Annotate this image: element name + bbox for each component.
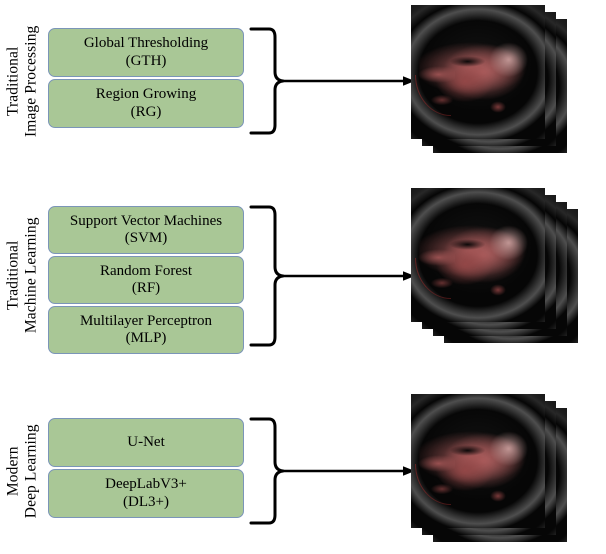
segmentation-overlay-notch (446, 55, 489, 68)
method-box-random-forest[interactable]: Random Forest (RF) (48, 256, 244, 304)
output-stack-modern-deep-learning (411, 394, 581, 549)
category-label-line2: Image Processing (23, 25, 41, 136)
ct-scan-layer-front[interactable] (411, 188, 545, 322)
method-name: Region Growing (96, 86, 196, 103)
arrow-to-output-traditional-machine-learning (283, 270, 415, 282)
output-stack-traditional-image-processing (411, 5, 581, 160)
method-box-u-net[interactable]: U-Net (48, 418, 244, 467)
segmentation-overlay-speck (487, 99, 508, 115)
method-box-deeplabv3plus[interactable]: DeepLabV3+ (DL3+) (48, 469, 244, 518)
method-box-multilayer-perceptron[interactable]: Multilayer Perceptron (MLP) (48, 306, 244, 354)
arrow-to-output-traditional-image-processing (283, 75, 415, 87)
method-abbr: (MLP) (126, 330, 167, 347)
segmentation-overlay-notch (446, 444, 489, 457)
method-box-global-thresholding[interactable]: Global Thresholding (GTH) (48, 28, 244, 77)
method-name: U-Net (127, 434, 165, 451)
method-abbr: (RG) (131, 104, 162, 121)
method-name: Support Vector Machines (70, 213, 222, 230)
category-label-traditional-image-processing: Traditional Image Processing (0, 20, 46, 142)
method-box-list-traditional-image-processing: Global Thresholding (GTH) Region Growing… (48, 28, 244, 128)
method-box-support-vector-machines[interactable]: Support Vector Machines (SVM) (48, 206, 244, 254)
arrow-to-output-modern-deep-learning (283, 465, 415, 477)
ct-scan-layer-front[interactable] (411, 394, 545, 528)
method-abbr: (RF) (132, 280, 160, 297)
segmentation-overlay-speck (487, 282, 508, 298)
category-label-line1: Modern (5, 424, 23, 518)
category-label-line2: Machine Learning (23, 217, 41, 333)
category-label-traditional-machine-learning: Traditional Machine Learning (0, 195, 46, 355)
ct-scan-layer-front[interactable] (411, 5, 545, 139)
category-label-line1: Traditional (5, 25, 23, 136)
method-name: DeepLabV3+ (105, 476, 187, 493)
method-name: Random Forest (100, 263, 192, 280)
method-name: Multilayer Perceptron (80, 313, 212, 330)
method-box-list-traditional-machine-learning: Support Vector Machines (SVM) Random For… (48, 206, 244, 354)
category-label-line1: Traditional (5, 217, 23, 333)
methods-to-segmentation-diagram: Traditional Image Processing Global Thre… (0, 0, 606, 554)
method-box-list-modern-deep-learning: U-Net DeepLabV3+ (DL3+) (48, 418, 244, 518)
method-abbr: (DL3+) (123, 494, 169, 511)
category-label-modern-deep-learning: Modern Deep Learning (0, 410, 46, 532)
segmentation-overlay-speck (487, 488, 508, 504)
category-label-line2: Deep Learning (23, 424, 41, 518)
segmentation-overlay-notch (446, 238, 489, 251)
method-box-region-growing[interactable]: Region Growing (RG) (48, 79, 244, 128)
method-abbr: (GTH) (126, 53, 167, 70)
output-stack-traditional-machine-learning (411, 188, 596, 358)
method-name: Global Thresholding (84, 35, 208, 52)
method-abbr: (SVM) (125, 230, 168, 247)
